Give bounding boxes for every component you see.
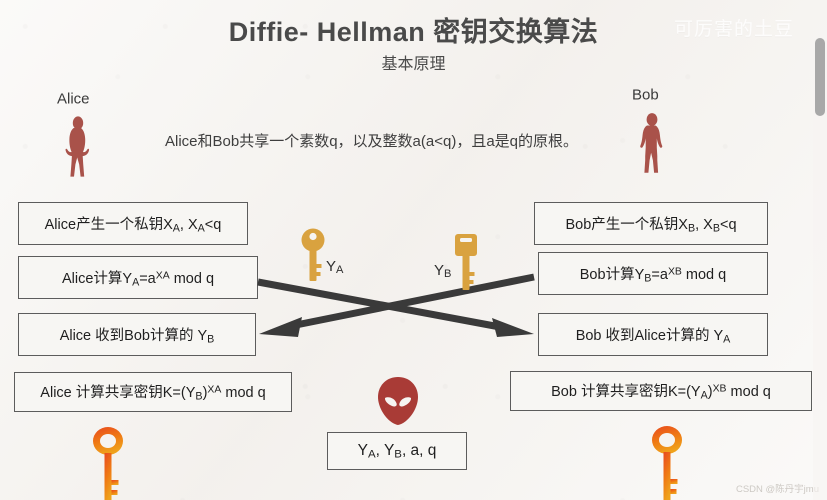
eavesdropper-known-values-box: YA, YB, a, q (327, 432, 467, 470)
alien-icon (376, 376, 420, 426)
bob-shared-key-icon (646, 424, 688, 500)
scrollbar-track[interactable] (813, 0, 827, 500)
public-key-b-label: YB (434, 262, 451, 280)
slide-canvas: Diffie- Hellman 密钥交换算法 基本原理 Alice和Bob共享一… (0, 0, 827, 500)
alice-shared-key-icon (87, 425, 129, 500)
scrollbar-thumb[interactable] (815, 38, 825, 116)
eavesdropper-known-values-text: YA, YB, a, q (358, 442, 437, 461)
watermark-bottom-right: CSDN @陈丹宇jmu (736, 481, 819, 495)
public-key-b-icon (452, 232, 480, 294)
public-key-a-icon (300, 227, 326, 287)
watermark-top-right: 可厉害的土豆 (674, 14, 794, 41)
public-key-a-label: YA (326, 258, 343, 276)
